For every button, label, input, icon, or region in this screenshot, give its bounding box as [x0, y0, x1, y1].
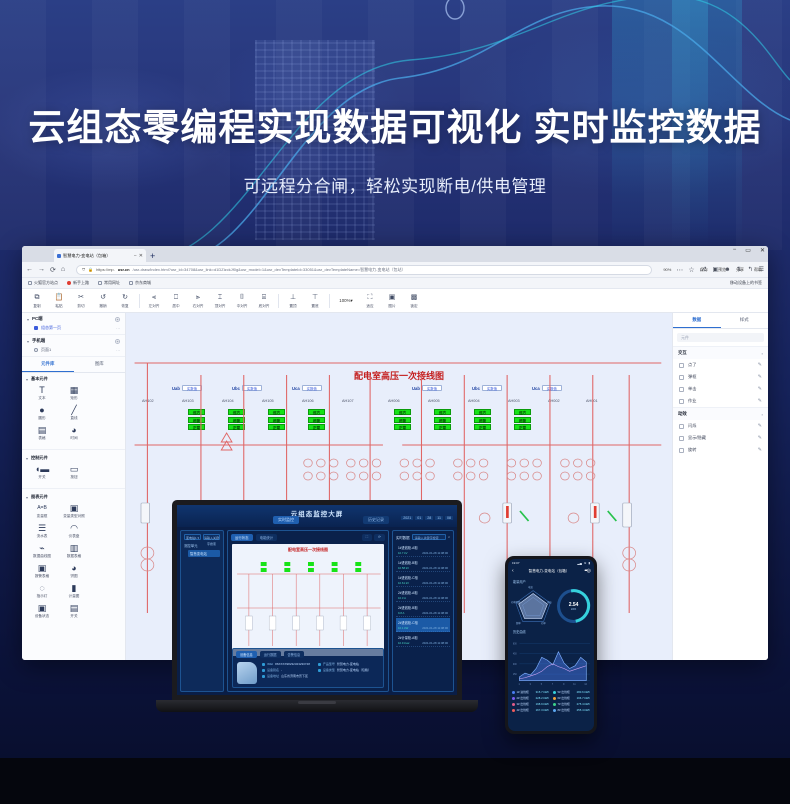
radar-axis-label: 功率: [541, 621, 546, 625]
info-key: IMEI: [267, 662, 273, 666]
clock-icon: ◕: [58, 425, 90, 436]
property-row[interactable]: 单击✎: [673, 383, 768, 395]
svg-text:150: 150: [513, 674, 517, 676]
device-image: [237, 662, 257, 684]
checkbox[interactable]: [679, 399, 684, 404]
legend-item: 8# 出线柜255.4 kWh: [553, 708, 590, 712]
property-row[interactable]: 作业✎: [673, 395, 768, 407]
mobile-bookmarks-item[interactable]: 移动设备上的书签: [728, 280, 762, 286]
toolbar-label: 图片: [381, 304, 403, 309]
toolbar-label: 复制: [26, 304, 48, 309]
data-name: 2#进线柜-C相: [398, 620, 448, 625]
toolbar-align-center-button[interactable]: ⎕居中: [165, 293, 187, 309]
data-row[interactable]: 1#进线柜-B相10.58 kV2021-01-28 11:08:00: [396, 558, 450, 572]
legend-value: 228.2 kWh: [536, 696, 549, 700]
element-variable-box[interactable]: A=B变量框: [26, 503, 58, 519]
data-value: 10.58 kV: [398, 566, 409, 570]
canvas-zoom-select[interactable]: 100%▾: [333, 298, 359, 304]
back-arrow-icon[interactable]: ←: [26, 266, 33, 273]
element-switch-panel[interactable]: ▤开关: [58, 603, 90, 619]
data-time: 2021-01-28 11:08:00: [422, 581, 448, 585]
chevron-down-icon: ▾: [26, 495, 28, 500]
refresh-icon[interactable]: ⟳: [374, 534, 385, 541]
toolbar-align-bottom-button[interactable]: ⌸底对齐: [253, 293, 275, 309]
bottom-band: [0, 758, 790, 804]
legend-label: 5# 出线柜: [558, 690, 570, 694]
checkbox[interactable]: [679, 387, 684, 392]
fit-screen-icon: ⛶: [359, 293, 381, 303]
data-time: 2021-01-28 11:08:00: [422, 551, 448, 555]
element-label: 表格: [26, 436, 58, 441]
toolbar-paste-button[interactable]: 📋粘贴: [48, 293, 70, 309]
edit-icon[interactable]: ✎: [758, 362, 762, 368]
tab-style[interactable]: 样式: [721, 313, 769, 328]
legend-label: 3# 出线柜: [517, 702, 529, 706]
checkbox[interactable]: [679, 375, 684, 380]
maximize-button[interactable]: ▭: [745, 247, 751, 254]
toolbar-group-view: ⛶适应 ▣图片 ▩锁定: [359, 293, 425, 309]
info-row: IMEI86XXXX98232323230748: [262, 662, 310, 666]
group-label: 控制元件: [31, 455, 48, 461]
section-title: PC端: [32, 316, 43, 322]
element-circle[interactable]: ●圆形: [26, 405, 58, 421]
svg-text:12: 12: [584, 684, 587, 686]
add-circle-icon[interactable]: +: [115, 317, 120, 322]
data-sub: 10.61 kV2021-01-28 11:08:00: [398, 581, 448, 585]
element-label: 开关: [58, 614, 90, 619]
legend-swatch: [553, 691, 556, 694]
element-status-list[interactable]: ☰流水表: [26, 523, 58, 539]
lock-icon: 🔒: [88, 267, 93, 272]
element-variable-image[interactable]: ▣变量类型对照: [58, 503, 90, 519]
legend-item: 4# 出线柜167.3 kWh: [512, 708, 549, 712]
legend-label: 6# 出线柜: [558, 696, 570, 700]
page-menu-icon[interactable]: ⋯: [676, 266, 683, 274]
toolbar-label: 顶对齐: [209, 304, 231, 309]
reload-icon[interactable]: ⟳: [50, 266, 56, 274]
toolbar-lock-button[interactable]: ▩锁定: [403, 293, 425, 309]
canvas-zoom-value: 100%: [339, 298, 350, 303]
collapse-icon[interactable]: ▪: [762, 351, 763, 356]
section-interaction-header[interactable]: 交互 ▪: [673, 346, 768, 359]
info-value: 智慧电力-变电站（包箱）: [337, 668, 371, 672]
library-group-title[interactable]: ▾ 控制元件: [26, 455, 121, 461]
checkbox[interactable]: [679, 424, 684, 429]
toolbar-label: 锁定: [403, 304, 425, 309]
bookmark-item[interactable]: 常用网址: [98, 280, 120, 286]
info-value: -: [281, 668, 282, 672]
main-tab-energy[interactable]: 电能统计: [256, 534, 278, 541]
legend-value: 275.4 kWh: [577, 702, 590, 706]
browser-titlebar: 智慧电力-变电站（包箱） − ✕ + − ▭ ✕: [22, 246, 768, 262]
browser-tab[interactable]: 智慧电力-变电站（包箱） − ✕: [54, 249, 146, 262]
dashboard: 云组态监控大屏 实时监控 历史记录 2021 01 28 11 08 变电站1 …: [177, 505, 457, 695]
clock-day: 28: [425, 516, 433, 520]
indicator-icon: ◌: [26, 583, 58, 594]
element-line[interactable]: ╱直线: [58, 405, 90, 421]
toolbar-align-middle-button[interactable]: ⌷中对齐: [231, 293, 253, 309]
legend-value: 198.9 kWh: [536, 702, 549, 706]
bookmark-star-icon[interactable]: ☆: [688, 266, 694, 274]
dashboard-body: 变电站1 ▾ 请输入关键字搜索 测控单元 智慧变电站 运行状态 电能统计 ⛶ ⟳: [177, 527, 457, 695]
legend-swatch: [553, 697, 556, 700]
phone-section-label: 能量用户: [508, 577, 594, 585]
legend-value: 167.3 kWh: [536, 708, 549, 712]
info-row: 设备别名-: [262, 668, 310, 672]
bookmark-item[interactable]: 新手上路: [67, 280, 89, 286]
data-sub: 10.1 kW2021-01-28 11:08:00: [398, 626, 448, 630]
bookmark-label: 常用网址: [104, 280, 120, 286]
legend-item: 5# 出线柜280.6 kWh: [553, 690, 590, 694]
redo-icon: ↻: [114, 293, 136, 303]
property-row[interactable]: 显示/隐藏✎: [673, 432, 768, 444]
realtime-data-panel: 实时数据 请输入关键字搜索 ⌕ 1#进线柜-A相10.7 kV2021-01-2…: [392, 530, 454, 692]
data-sub: 10.3 A2021-01-28 11:08:00: [398, 596, 448, 600]
mobile-bookmarks-label: 移动设备上的书签: [730, 280, 762, 286]
station-select[interactable]: 变电站1 ▾: [184, 534, 201, 540]
element-alarm-table[interactable]: ▣报警表格: [26, 563, 58, 579]
chevron-down-icon: ▾: [351, 298, 353, 303]
edit-icon[interactable]: ✎: [758, 374, 762, 380]
section-header[interactable]: ▾ 手机端 +: [27, 338, 120, 344]
library-group-charts: ▾ 图表元件 A=B变量框 ▣变量类型对照 ☰流水表 ◠仪表盘 ⌁数据曲线图 ▥…: [22, 491, 125, 625]
page-item-mobile[interactable]: 页面1 ⋯: [27, 347, 120, 353]
gauge-value-group: 2.54 kWh: [560, 592, 587, 620]
data-time: 2021-01-28 11:08:00: [422, 566, 448, 570]
element-button[interactable]: ▭按钮: [58, 464, 90, 480]
property-label: 旋转: [688, 447, 696, 453]
data-row-selected[interactable]: 2#进线柜-C相10.1 kW2021-01-28 11:08:00: [396, 618, 450, 632]
main-tab-status[interactable]: 运行状态: [231, 534, 253, 541]
legend-swatch: [512, 691, 515, 694]
rectangle-icon: ▦: [58, 385, 90, 396]
laptop-base: [156, 700, 478, 712]
radar-chart: 电流 电压 功率 频率 功率因数: [512, 586, 554, 626]
dashboard-main: 运行状态 电能统计 ⛶ ⟳ 配电室高压一次接线图: [227, 530, 389, 692]
toolbar-divider: [278, 294, 279, 308]
shield-icon: ⛉: [82, 267, 85, 272]
window-close-button[interactable]: ✕: [760, 247, 765, 254]
legend-swatch: [553, 709, 556, 712]
bookmark-item[interactable]: 火狐官方站点: [28, 280, 58, 286]
properties-search-input[interactable]: 元件: [677, 333, 764, 342]
property-row[interactable]: 弹框✎: [673, 371, 768, 383]
element-label: 时间: [58, 436, 90, 441]
chevron-down-icon: ▾: [27, 339, 29, 344]
page-title: 云组态零编程实现数据可视化 实时监控数据: [0, 97, 790, 151]
phone-navbar: ‹ 智慧电力-变电站（包箱） ••• ◎: [508, 567, 594, 577]
collapse-icon[interactable]: ▪: [762, 412, 763, 417]
copy-icon: ⧉: [26, 293, 48, 303]
legend-item: 2# 出线柜228.2 kWh: [512, 696, 549, 700]
library-group-title[interactable]: ▾ 基本元件: [26, 376, 121, 382]
gauge-unit: kWh: [571, 608, 576, 611]
address-bar[interactable]: ⛉ 🔒 https://mp.usr.cn/usr-draw/index.htm…: [76, 265, 652, 275]
variable-box-icon: A=B: [26, 503, 58, 514]
checkbox[interactable]: [679, 436, 684, 441]
edit-icon[interactable]: ✎: [758, 447, 762, 453]
bookmark-label: 新手上路: [73, 280, 89, 286]
legend-value: 255.4 kWh: [577, 708, 590, 712]
toolbar-send-back-button[interactable]: ⊤置底: [304, 293, 326, 309]
realtime-title: 实时数据: [396, 535, 410, 540]
toolbar-group-edit: ⧉复制 📋粘贴 ✂剪切 ↺撤销 ↻恢复: [26, 293, 136, 309]
data-row[interactable]: 1#进线柜-C相10.61 kV2021-01-28 11:08:00: [396, 573, 450, 587]
dashboard-diagram[interactable]: 配电室高压一次接线图: [232, 544, 384, 656]
tab-runtime-data[interactable]: 运行数据: [260, 651, 281, 658]
radar-axis-label: 功率因数: [511, 600, 521, 604]
property-row[interactable]: 闪烁✎: [673, 420, 768, 432]
toolbar-undo-button[interactable]: ↺撤销: [92, 293, 114, 309]
menu-preview[interactable]: 预览: [718, 267, 726, 273]
element-device-status[interactable]: ▣设备状态: [26, 603, 58, 619]
element-rectangle[interactable]: ▦矩形: [58, 385, 90, 401]
bookmark-icon: [129, 281, 133, 285]
page-icon: [34, 348, 38, 352]
info-key: 设备地址: [267, 674, 279, 678]
tab-minimize-icon[interactable]: −: [134, 253, 137, 259]
element-gauge[interactable]: ◠仪表盘: [58, 523, 90, 539]
property-row[interactable]: 旋转✎: [673, 444, 768, 456]
library-group-control: ▾ 控制元件 ◖▬开关 ▭按钮: [22, 452, 125, 486]
data-value: 9.8 A: [398, 611, 404, 615]
tab-alarm-info[interactable]: 告警信息: [284, 651, 305, 658]
element-label: 设备状态: [26, 614, 58, 619]
dashboard-tab-realtime[interactable]: 实时监控: [273, 516, 299, 524]
line-chart-icon: ⌁: [26, 543, 58, 554]
gauge-icon: ◠: [58, 523, 90, 534]
history-area-chart: 600450 300150 135 791112: [512, 636, 590, 688]
favicon-icon: [57, 254, 61, 258]
bookmark-icon: [28, 281, 32, 285]
sidebar-search-input[interactable]: 请输入关键字搜索: [203, 534, 220, 540]
toolbar-group-align: ⫷左对齐 ⎕居中 ⫸右对齐 ⌶顶对齐 ⌷中对齐 ⌸底对齐: [143, 293, 275, 309]
phone-mockup: 19:07 ▂▄ ≋ ▮ ‹ 智慧电力-变电站（包箱） ••• ◎ 能量用户 电…: [505, 556, 597, 734]
device-info-columns: IMEI86XXXX98232323230748 设备别名- 设备地址山东省济南…: [262, 662, 379, 684]
element-label: 矩形: [58, 396, 90, 401]
battery-icon: ▮: [588, 561, 590, 565]
close-icon[interactable]: ✕: [139, 253, 143, 259]
radar-axis-label: 电压: [547, 600, 552, 604]
property-label: 显示/隐藏: [688, 435, 706, 441]
tab-device-info[interactable]: 设备信息: [236, 651, 257, 658]
add-circle-icon[interactable]: +: [115, 339, 120, 344]
element-bar-chart[interactable]: ▮计量图: [58, 583, 90, 599]
dashboard-tab-history[interactable]: 历史记录: [363, 516, 389, 524]
search-icon[interactable]: ⌕: [448, 535, 450, 539]
url-prefix: https://mp.: [96, 267, 115, 272]
svg-text:3: 3: [530, 684, 532, 686]
menu-save[interactable]: 保存: [700, 267, 708, 273]
browser-zoom-level[interactable]: 90%: [663, 267, 671, 272]
wifi-icon: ≋: [584, 561, 587, 565]
element-label: 文本: [26, 396, 58, 401]
element-label: 饼图: [58, 574, 90, 579]
element-label: 指示灯: [26, 594, 58, 599]
more-icon[interactable]: ⋯: [116, 326, 120, 331]
dashboard-sidebar: 变电站1 ▾ 请输入关键字搜索 测控单元 智慧变电站: [180, 530, 224, 692]
element-table[interactable]: ▤表格: [26, 425, 58, 441]
tab-data[interactable]: 数据: [673, 313, 721, 328]
firmware-icon: [318, 669, 321, 672]
area-chart-svg: 600450 300150 135 791112: [512, 636, 590, 688]
toolbar-redo-button[interactable]: ↻恢复: [114, 293, 136, 309]
property-label: 闪烁: [688, 423, 696, 429]
data-row[interactable]: 2#进线柜-A相10.3 A2021-01-28 11:08:00: [396, 588, 450, 602]
text-icon: T: [26, 385, 58, 396]
toolbar-fit-button[interactable]: ⛶适应: [359, 293, 381, 309]
data-row[interactable]: 1#进线柜-A相10.7 kV2021-01-28 11:08:00: [396, 543, 450, 557]
legend-swatch: [512, 697, 515, 700]
new-tab-button[interactable]: +: [150, 251, 155, 262]
data-sub: 10.58 kV2021-01-28 11:08:00: [398, 566, 448, 570]
bookmark-icon: [98, 281, 102, 285]
data-row[interactable]: 2#计量柜-A相10.9 kvar2021-01-28 11:08:00: [396, 633, 450, 647]
cut-icon: ✂: [70, 293, 92, 303]
signal-icon: ▂▄: [577, 561, 581, 565]
toolbar-align-top-button[interactable]: ⌶顶对齐: [209, 293, 231, 309]
info-row: 产品型号智慧电力-变电站: [318, 662, 371, 666]
phone-screen: 19:07 ▂▄ ≋ ▮ ‹ 智慧电力-变电站（包箱） ••• ◎ 能量用户 电…: [508, 559, 594, 731]
radar-axis-label: 电流: [528, 585, 533, 589]
minimize-button[interactable]: −: [733, 247, 737, 254]
legend-item: 7# 出线柜275.4 kWh: [553, 702, 590, 706]
toolbar-align-right-button[interactable]: ⫸右对齐: [187, 293, 209, 309]
toolbar-align-left-button[interactable]: ⫷左对齐: [143, 293, 165, 309]
checkbox[interactable]: [679, 363, 684, 368]
url-host: usr.cn: [118, 267, 130, 272]
toolbar-label: 适应: [359, 304, 381, 309]
element-label: 圆形: [26, 416, 58, 421]
toolbar-copy-button[interactable]: ⧉复制: [26, 293, 48, 309]
property-row[interactable]: 点了✎: [673, 359, 768, 371]
data-row[interactable]: 2#进线柜-B相9.8 A2021-01-28 11:08:00: [396, 603, 450, 617]
home-icon[interactable]: ⌂: [61, 266, 65, 273]
dashboard-header: 云组态监控大屏 实时监控 历史记录 2021 01 28 11 08: [177, 505, 457, 527]
menu-share[interactable]: 分享: [736, 267, 744, 273]
dashboard-clock: 2021 01 28 11 08: [401, 516, 453, 520]
laptop-mockup: 云组态监控大屏 实时监控 历史记录 2021 01 28 11 08 变电站1 …: [172, 500, 462, 730]
toolbar-cut-button[interactable]: ✂剪切: [70, 293, 92, 309]
laptop-screen: 云组态监控大屏 实时监控 历史记录 2021 01 28 11 08 变电站1 …: [172, 500, 462, 700]
group-label: 图表元件: [31, 494, 48, 500]
element-switch[interactable]: ◖▬开关: [26, 464, 58, 480]
phone-statusbar: 19:07 ▂▄ ≋ ▮: [508, 559, 594, 567]
more-icon[interactable]: ⋯: [116, 348, 120, 353]
element-label: 变量类型对照: [58, 514, 90, 519]
window-controls: − ▭ ✕: [733, 247, 765, 254]
browser-navbar: ← → ⟳ ⌂ ⛉ 🔒 https://mp.usr.cn/usr-draw/i…: [22, 262, 768, 278]
element-text[interactable]: T文本: [26, 385, 58, 401]
chevron-down-icon: ▾: [26, 377, 28, 382]
svg-text:1: 1: [519, 684, 521, 686]
toolbar-image-button[interactable]: ▣图片: [381, 293, 403, 309]
element-line-chart[interactable]: ⌁数据曲线图: [26, 543, 58, 559]
property-label: 弹框: [688, 374, 696, 380]
element-indicator[interactable]: ◌指示灯: [26, 583, 58, 599]
legend-row: 2# 出线柜228.2 kWh 6# 出线柜196.7 kWh: [512, 696, 590, 700]
section-animation-header[interactable]: 动效 ▪: [673, 407, 768, 420]
clock-hour: 11: [435, 516, 443, 520]
fullscreen-icon[interactable]: ⛶: [362, 534, 372, 541]
element-label: 数据曲线图: [26, 554, 58, 559]
element-label: 变量框: [26, 514, 58, 519]
page-icon: [34, 326, 38, 330]
clock-month: 01: [415, 516, 423, 520]
element-label: 数据表格: [58, 554, 90, 559]
svg-text:5: 5: [541, 684, 543, 686]
target-icon[interactable]: ◎: [587, 568, 590, 574]
element-data-table[interactable]: ▥数据表格: [58, 543, 90, 559]
toolbar-group-order: ⊥置顶 ⊤置底: [282, 293, 326, 309]
data-name: 2#计量柜-A相: [398, 635, 448, 640]
properties-tabs: 数据 样式: [673, 313, 768, 329]
menu-help[interactable]: 帮助: [754, 267, 762, 273]
info-row: 设备地址山东省济南市历下区: [262, 674, 310, 678]
tab-image-library[interactable]: 图库: [74, 357, 126, 372]
divider: [22, 488, 125, 489]
bar-chart-icon: ▮: [58, 583, 90, 594]
toolbar-bring-front-button[interactable]: ⊥置顶: [282, 293, 304, 309]
page-label: 组态第一页: [41, 325, 61, 331]
page-item-pc[interactable]: 组态第一页 ⋯: [27, 325, 120, 331]
edit-icon[interactable]: ✎: [758, 423, 762, 429]
data-value: 10.9 kvar: [398, 641, 410, 645]
checkbox[interactable]: [679, 448, 684, 453]
section-header[interactable]: ▾ PC端 +: [27, 316, 120, 322]
element-label: 报警表格: [26, 574, 58, 579]
gauge-value: 2.54: [569, 602, 579, 608]
info-row: 设备类型智慧电力-变电站（包箱）: [318, 668, 371, 672]
edit-icon[interactable]: ✎: [758, 398, 762, 404]
realtime-search-input[interactable]: 请输入关键字搜索: [412, 534, 447, 540]
app-menu: 保存 预览 分享 帮助: [700, 267, 762, 273]
realtime-head: 实时数据 请输入关键字搜索 ⌕: [396, 534, 450, 540]
table-icon: ▤: [26, 425, 58, 436]
legend-item: 1# 进线柜315.7 kWh: [512, 690, 549, 694]
data-time: 2021-01-28 11:08:00: [422, 641, 448, 645]
svg-text:600: 600: [513, 643, 517, 645]
toolbar-label: 居中: [165, 304, 187, 309]
edit-icon[interactable]: ✎: [758, 435, 762, 441]
property-label: 点了: [688, 362, 696, 368]
element-pie-chart[interactable]: ◕饼图: [58, 563, 90, 579]
tab-element-library[interactable]: 元件库: [22, 357, 74, 372]
group-label: 基本元件: [31, 376, 48, 382]
legend-item: 6# 出线柜196.7 kWh: [553, 696, 590, 700]
app-toolbar: 保存 预览 分享 帮助 ⧉复制 📋粘贴 ✂剪切 ↺撤销 ↻恢复 ⫷左对齐 ⎕居中…: [22, 289, 768, 313]
radar-chart-svg: [512, 586, 554, 626]
device-info-tabs: 设备信息 运行数据 告警信息: [233, 649, 383, 660]
align-left-icon: ⫷: [143, 293, 165, 303]
edit-icon[interactable]: ✎: [758, 386, 762, 392]
forward-arrow-icon[interactable]: →: [38, 266, 45, 273]
model-icon: [318, 663, 321, 666]
device-info-col-right: 产品型号智慧电力-变电站 设备类型智慧电力-变电站（包箱）: [318, 662, 371, 684]
distribute-v-icon: ⊤: [304, 293, 326, 303]
element-clock[interactable]: ◕时间: [58, 425, 90, 441]
info-value: 智慧电力-变电站: [337, 662, 359, 666]
svg-text:9: 9: [563, 684, 565, 686]
bookmark-icon: [67, 281, 71, 285]
align-bottom-icon: ⌸: [253, 293, 275, 303]
library-grid: T文本 ▦矩形 ●圆形 ╱直线 ▤表格 ◕时间: [26, 385, 121, 445]
toolbar-label: 置底: [304, 304, 326, 309]
sidebar-device-item[interactable]: 智慧变电站: [188, 550, 220, 557]
bookmark-item[interactable]: 京东商城: [129, 280, 151, 286]
library-group-title[interactable]: ▾ 图表元件: [26, 494, 121, 500]
legend-swatch: [512, 703, 515, 706]
